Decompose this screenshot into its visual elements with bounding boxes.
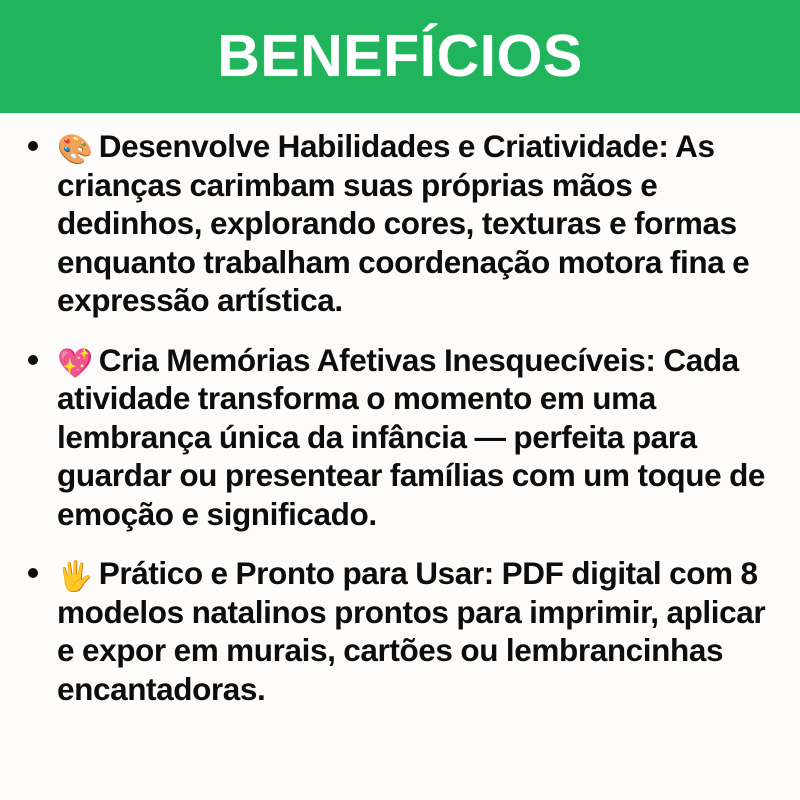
bullet-marker-icon — [28, 141, 38, 151]
bullet-marker-icon — [28, 355, 38, 365]
benefit-text-1: Desenvolve Habilidades e Criatividade: A… — [57, 128, 749, 318]
benefit-item-3: 🖐Prático e Pronto para Usar: PDF digital… — [18, 554, 782, 708]
benefits-page: BENEFÍCIOS 🎨Desenvolve Habilidades e Cri… — [0, 0, 800, 800]
benefit-item-2: 💖Cria Memórias Afetivas Inesquecíveis: C… — [18, 341, 782, 534]
benefit-text-3: Prático e Pronto para Usar: PDF digital … — [57, 555, 765, 707]
bullet-marker-icon — [28, 568, 38, 578]
benefit-text-2: Cria Memórias Afetivas Inesquecíveis: Ca… — [57, 342, 765, 532]
benefit-item-1: 🎨Desenvolve Habilidades e Criatividade: … — [18, 127, 782, 320]
raised-hand-emoji: 🖐 — [57, 559, 93, 593]
artist-palette-emoji: 🎨 — [57, 132, 93, 166]
benefits-list: 🎨Desenvolve Habilidades e Criatividade: … — [0, 113, 800, 800]
sparkling-heart-emoji: 💖 — [57, 346, 93, 380]
page-title: BENEFÍCIOS — [217, 27, 583, 86]
header-band: BENEFÍCIOS — [0, 0, 800, 113]
